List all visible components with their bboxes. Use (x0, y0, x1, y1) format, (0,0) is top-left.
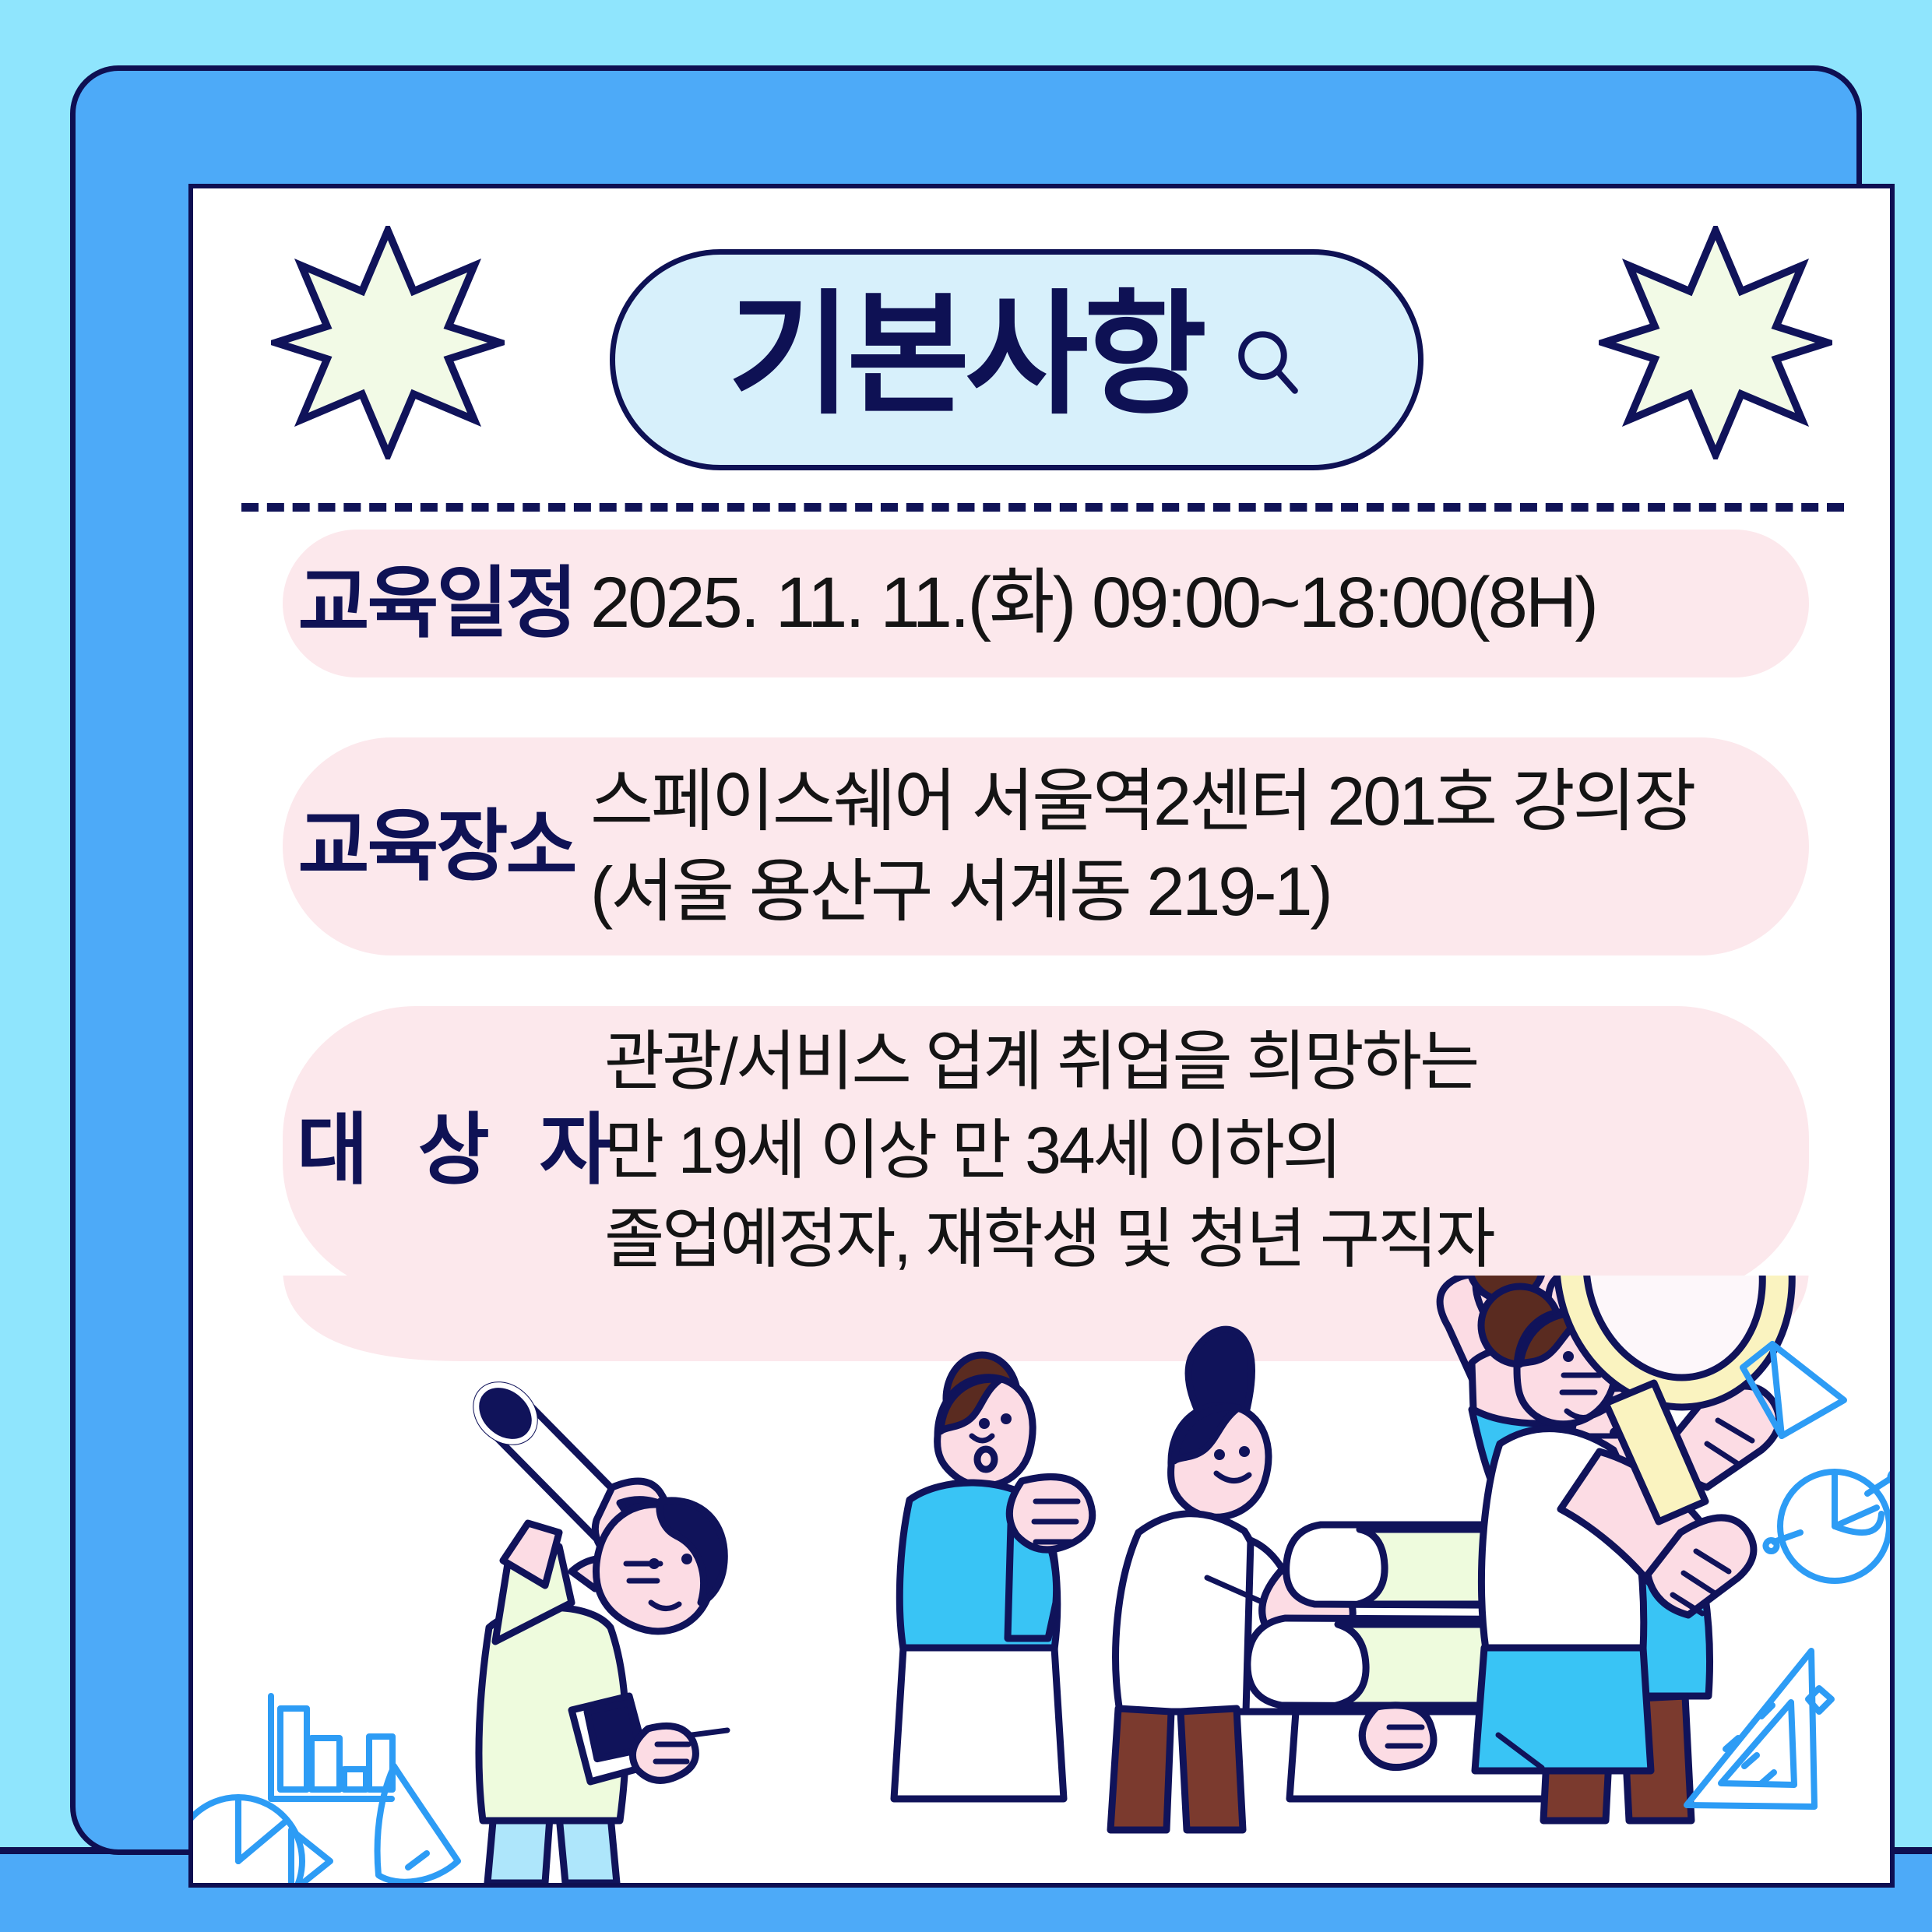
bar-chart-icon (271, 1696, 392, 1799)
info-value-line: 2025. 11. 11.(화) 09:00~18:00(8H) (590, 557, 1786, 650)
info-row-schedule: 교육일정 2025. 11. 11.(화) 09:00~18:00(8H) (283, 530, 1809, 677)
poster-card-frame: 기본사항 교육일정 2025. 11. 11.(화) 09:00~18:00(8… (70, 65, 1862, 1855)
page-title: 기본사항 (728, 288, 1202, 422)
info-value-line: 만 19세 이상 만 34세 이하의 (604, 1106, 1786, 1195)
eight-point-star-icon (1599, 226, 1832, 459)
cone-icon (378, 1766, 458, 1882)
sliced-sphere-icon (1766, 1472, 1891, 1581)
info-row-value: 2025. 11. 11.(화) 09:00~18:00(8H) (590, 557, 1809, 650)
info-value-line: 졸업예정자, 재학생 및 청년 구직자 (604, 1195, 1786, 1283)
bottom-illustration: .o{fill:none;stroke:#10135A;stroke-width… (193, 1276, 1890, 1883)
search-icon (1232, 326, 1305, 399)
section-title-pill: 기본사항 (610, 249, 1423, 470)
info-row-value: 스페이스쉐어 서울역2센터 201호 강의장 (서울 용산구 서계동 219-1… (590, 756, 1809, 937)
poster-header: 기본사항 (193, 188, 1890, 523)
info-value-line: 관광/서비스 업계 취업을 희망하는 (604, 1017, 1786, 1106)
info-row-location: 교육장소 스페이스쉐어 서울역2센터 201호 강의장 (서울 용산구 서계동 … (283, 737, 1809, 955)
illustration-artwork: .o{fill:none;stroke:#10135A;stroke-width… (193, 1276, 1890, 1883)
person-with-telescope (465, 1374, 727, 1883)
info-row-target-audience: 대 상 자 관광/서비스 업계 취업을 희망하는 만 19세 이상 만 34세 … (283, 1006, 1809, 1294)
info-row-label: 교육장소 (283, 806, 590, 888)
dashed-divider (241, 503, 1844, 512)
info-value-line: 스페이스쉐어 서울역2센터 201호 강의장 (590, 756, 1786, 846)
info-row-label: 대 상 자 (283, 1110, 604, 1191)
info-row-label: 교육일정 (283, 563, 590, 645)
info-value-line: (서울 용산구 서계동 219-1) (590, 846, 1786, 937)
person-pointing (894, 1355, 1093, 1799)
info-row-value: 관광/서비스 업계 취업을 희망하는 만 19세 이상 만 34세 이하의 졸업… (604, 1017, 1809, 1284)
pie-chart-icon (193, 1797, 330, 1883)
eight-point-star-icon (271, 226, 505, 459)
poster-card-inner: 기본사항 교육일정 2025. 11. 11.(화) 09:00~18:00(8… (188, 184, 1895, 1888)
